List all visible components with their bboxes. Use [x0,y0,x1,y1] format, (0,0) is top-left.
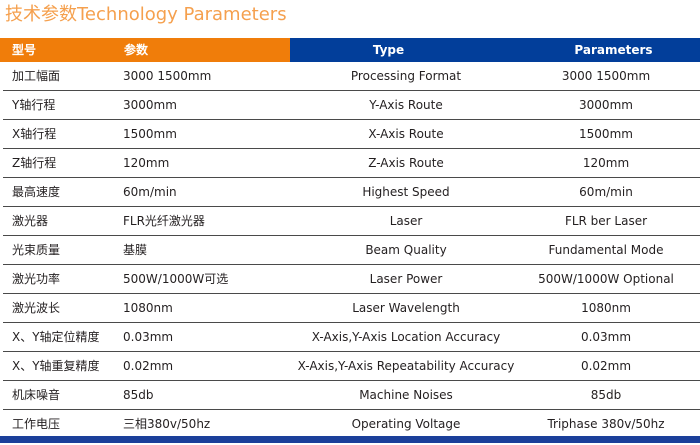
table-row: X、Y轴定位精度0.03mmX-Axis,Y-Axis Location Acc… [0,323,700,352]
row-value-en: 0.03mm [520,323,692,351]
row-value-en: 3000mm [520,91,692,119]
row-left-gutter [0,149,3,178]
row-value-en: 3000 1500mm [520,62,692,90]
row-label-cn: 激光功率 [12,265,120,293]
row-label-cn: Y轴行程 [12,91,120,119]
row-label-en: Highest Speed [292,178,520,206]
row-label-cn: X、Y轴定位精度 [12,323,120,351]
row-value-cn: 85db [123,381,288,409]
row-value-cn: 1500mm [123,120,288,148]
table-header-row: 型号 参数 Type Parameters [0,38,700,62]
row-value-cn: 0.03mm [123,323,288,351]
parameters-table-body: 加工幅面3000 1500mmProcessing Format3000 150… [0,62,700,439]
page-title: 技术参数Technology Parameters [5,3,287,27]
row-label-en: X-Axis,Y-Axis Location Accuracy [292,323,520,351]
row-value-cn: FLR光纤激光器 [123,207,288,235]
row-value-cn: 基膜 [123,236,288,264]
row-left-gutter [0,323,3,352]
bottom-accent-bar [0,436,700,443]
row-label-cn: X轴行程 [12,120,120,148]
row-value-cn: 3000 1500mm [123,62,288,90]
table-row: 激光功率500W/1000W可选Laser Power500W/1000W Op… [0,265,700,294]
row-label-en: Y-Axis Route [292,91,520,119]
row-label-cn: 机床噪音 [12,381,120,409]
row-label-en: Beam Quality [292,236,520,264]
row-value-en: 1080nm [520,294,692,322]
table-row: 激光器FLR光纤激光器LaserFLR ber Laser [0,207,700,236]
table-row: Z轴行程120mmZ-Axis Route120mm [0,149,700,178]
table-row: 机床噪音85dbMachine Noises85db [0,381,700,410]
row-value-cn: 3000mm [123,91,288,119]
row-value-en: FLR ber Laser [520,207,692,235]
table-row: 加工幅面3000 1500mmProcessing Format3000 150… [0,62,700,91]
table-row: 激光波长1080nmLaser Wavelength1080nm [0,294,700,323]
row-left-gutter [0,178,3,207]
row-label-en: X-Axis Route [292,120,520,148]
technology-parameters-page: 技术参数Technology Parameters 型号 参数 Type Par… [0,0,700,445]
row-left-gutter [0,410,3,439]
row-left-gutter [0,62,3,91]
row-value-cn: 120mm [123,149,288,177]
row-value-en: 60m/min [520,178,692,206]
row-label-en: Laser Wavelength [292,294,520,322]
table-header-left-chinese: 型号 参数 [0,38,290,62]
table-row: 工作电压三相380v/50hzOperating VoltageTriphase… [0,410,700,439]
row-label-cn: 激光器 [12,207,120,235]
row-label-cn: 最高速度 [12,178,120,206]
row-label-en: Laser Power [292,265,520,293]
row-value-en: 1500mm [520,120,692,148]
row-value-cn: 500W/1000W可选 [123,265,288,293]
row-left-gutter [0,120,3,149]
row-value-cn: 三相380v/50hz [123,410,288,438]
table-row: Y轴行程3000mmY-Axis Route3000mm [0,91,700,120]
column-header-parameters-en: Parameters [527,38,700,62]
row-left-gutter [0,265,3,294]
table-row: X轴行程1500mmX-Axis Route1500mm [0,120,700,149]
row-left-gutter [0,91,3,120]
row-label-en: Laser [292,207,520,235]
table-header-right-english: Type Parameters [290,38,700,62]
row-label-en: Processing Format [292,62,520,90]
row-label-en: Operating Voltage [292,410,520,438]
row-label-cn: 工作电压 [12,410,120,438]
row-value-cn: 60m/min [123,178,288,206]
column-header-parameter-cn: 参数 [124,38,148,62]
row-label-cn: 激光波长 [12,294,120,322]
row-value-en: 500W/1000W Optional [520,265,692,293]
row-left-gutter [0,236,3,265]
row-value-en: 0.02mm [520,352,692,380]
row-value-cn: 1080nm [123,294,288,322]
row-left-gutter [0,381,3,410]
row-label-en: X-Axis,Y-Axis Repeatability Accuracy [292,352,520,380]
table-row: 最高速度60m/minHighest Speed60m/min [0,178,700,207]
column-header-model-cn: 型号 [12,38,36,62]
row-label-cn: 加工幅面 [12,62,120,90]
row-label-en: Machine Noises [292,381,520,409]
row-value-cn: 0.02mm [123,352,288,380]
row-label-cn: X、Y轴重复精度 [12,352,120,380]
table-row: X、Y轴重复精度0.02mmX-Axis,Y-Axis Repeatabilit… [0,352,700,381]
row-label-cn: Z轴行程 [12,149,120,177]
row-left-gutter [0,207,3,236]
row-left-gutter [0,352,3,381]
row-value-en: 120mm [520,149,692,177]
row-value-en: 85db [520,381,692,409]
row-value-en: Triphase 380v/50hz [520,410,692,438]
row-label-en: Z-Axis Route [292,149,520,177]
column-header-type-en: Type [290,38,487,62]
row-label-cn: 光束质量 [12,236,120,264]
row-value-en: Fundamental Mode [520,236,692,264]
table-row: 光束质量基膜Beam QualityFundamental Mode [0,236,700,265]
row-left-gutter [0,294,3,323]
